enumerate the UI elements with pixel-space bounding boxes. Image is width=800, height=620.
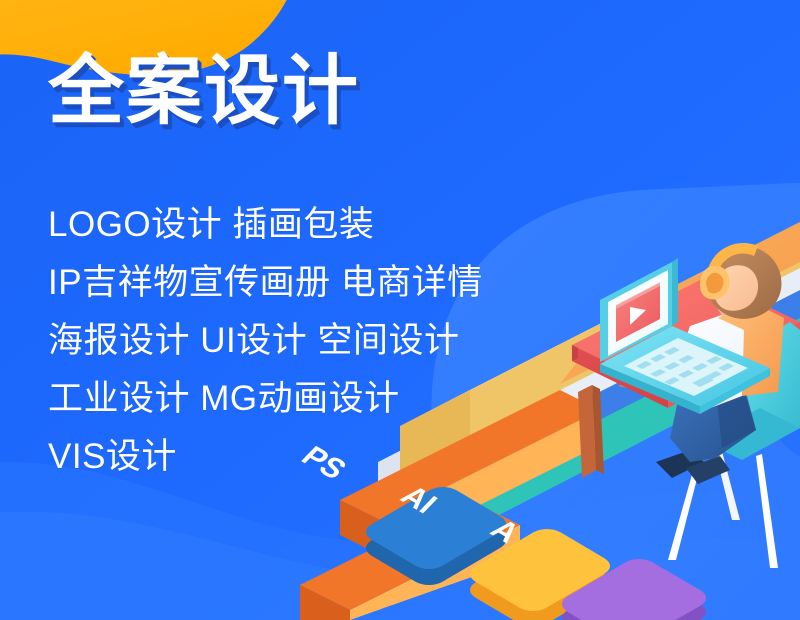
laptop-lid-edge <box>672 258 678 326</box>
chair-leg-2 <box>756 454 778 568</box>
page-title: 全案设计 <box>48 54 360 130</box>
service-list: LOGO设计 插画包装 IP吉祥物宣传画册 电商详情 海报设计 UI设计 空间设… <box>48 196 483 486</box>
service-line-2: IP吉祥物宣传画册 电商详情 <box>48 254 483 312</box>
service-line-1: LOGO设计 插画包装 <box>48 196 483 254</box>
title-block: 全案设计 <box>48 54 360 130</box>
service-line-3: 海报设计 UI设计 空间设计 <box>48 312 483 370</box>
service-line-5: VIS设计 <box>48 428 483 486</box>
service-line-4: 工业设计 MG动画设计 <box>48 370 483 428</box>
promo-poster: PS AI A 全案设计 LOGO设计 插画包装 IP吉祥物宣传画册 电商详情 … <box>0 0 800 620</box>
